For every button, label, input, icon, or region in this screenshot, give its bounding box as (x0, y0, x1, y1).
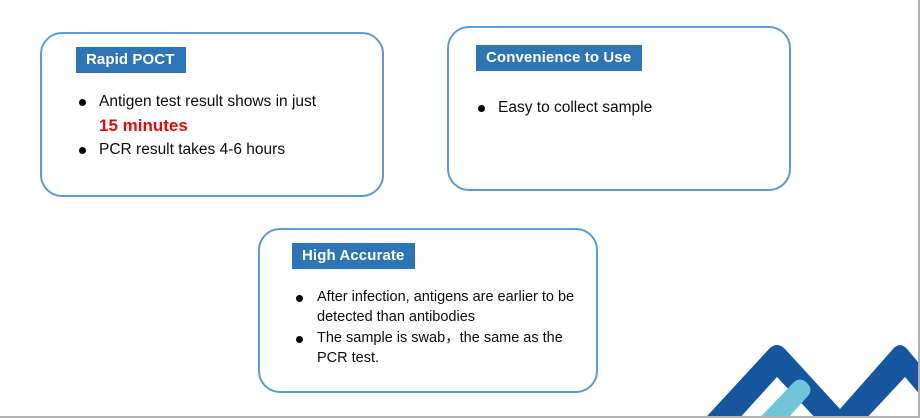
emphasis-text: 15 minutes (99, 114, 378, 137)
card-convenience-to-use: Convenience to Use Easy to collect sampl… (447, 26, 791, 191)
list-item-text: After infection, antigens are earlier to… (317, 289, 574, 325)
list-item-text: The sample is swab，the same as the PCR t… (317, 330, 563, 366)
slide-canvas: Rapid POCT Antigen test result shows in … (0, 0, 920, 418)
list-item: PCR result takes 4-6 hours (78, 139, 378, 161)
list-item-text: PCR result takes 4-6 hours (99, 141, 285, 158)
bullet-dot-icon (79, 99, 86, 106)
bullet-dot-icon (478, 105, 485, 112)
list-item-text: Easy to collect sample (498, 99, 652, 116)
chevron-mountain-logo-icon (707, 327, 920, 418)
bullet-dot-icon (79, 147, 86, 154)
card-header-rapid-poct: Rapid POCT (76, 47, 186, 73)
bullet-list-rapid-poct: Antigen test result shows in just 15 min… (78, 91, 378, 163)
bullet-list-high-accurate: After infection, antigens are earlier to… (295, 287, 590, 369)
list-item: The sample is swab，the same as the PCR t… (295, 328, 590, 368)
bullet-dot-icon (296, 336, 303, 343)
list-item: Antigen test result shows in just 15 min… (78, 91, 378, 137)
list-item-text: Antigen test result shows in just (99, 93, 316, 110)
card-high-accurate: High Accurate After infection, antigens … (258, 228, 598, 393)
list-item: After infection, antigens are earlier to… (295, 287, 590, 327)
card-rapid-poct: Rapid POCT Antigen test result shows in … (40, 32, 384, 197)
bullet-dot-icon (296, 295, 303, 302)
card-header-convenience-to-use: Convenience to Use (476, 45, 642, 71)
list-item: Easy to collect sample (477, 97, 777, 119)
card-header-high-accurate: High Accurate (292, 243, 415, 269)
bullet-list-convenience: Easy to collect sample (477, 97, 777, 121)
